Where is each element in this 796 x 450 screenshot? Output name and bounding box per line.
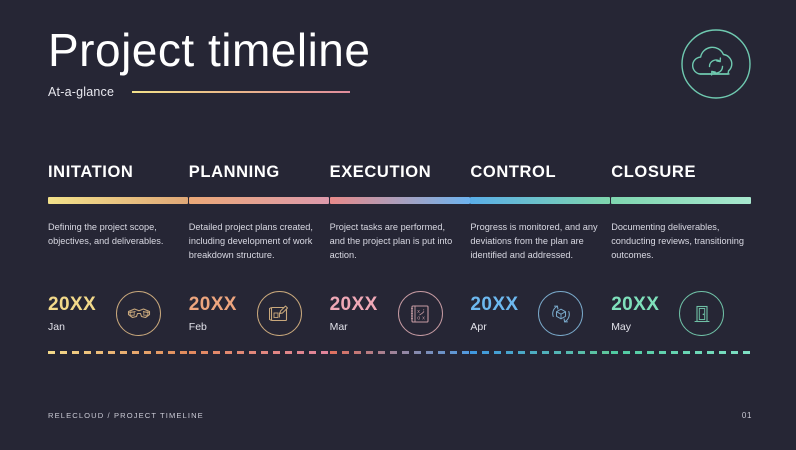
column-title: PLANNING <box>189 163 330 182</box>
column-milestone: 20XX Feb <box>189 291 302 336</box>
milestone-date: 20XX Jan <box>48 294 104 333</box>
column-description: Defining the project scope, objectives, … <box>48 221 181 249</box>
column-gradient-bar <box>330 197 470 204</box>
svg-text:x: x <box>422 315 425 321</box>
milestone-date: 20XX Apr <box>470 294 526 333</box>
milestone-year: 20XX <box>330 294 386 316</box>
strategy-playbook-icon: x ↑ o x <box>398 291 443 336</box>
column-description: Progress is monitored, and any deviation… <box>470 221 603 263</box>
slide-header: Project timeline At-a-glance <box>48 24 370 99</box>
milestone-year: 20XX <box>611 294 667 316</box>
milestone-month: May <box>611 321 667 333</box>
column-milestone: 20XX Jan <box>48 291 161 336</box>
column-title: CLOSURE <box>611 163 752 182</box>
footer-breadcrumb: RELECLOUD / PROJECT TIMELINE <box>48 411 204 420</box>
svg-text:o: o <box>417 315 420 321</box>
column-title: CONTROL <box>470 163 611 182</box>
timeline-column-execution: EXECUTION Project tasks are performed, a… <box>330 163 471 373</box>
timeline-column-planning: PLANNING Detailed project plans created,… <box>189 163 330 373</box>
column-gradient-bar <box>48 197 188 204</box>
milestone-year: 20XX <box>48 294 104 316</box>
milestone-year: 20XX <box>189 294 245 316</box>
cloud-sync-icon <box>678 26 754 102</box>
column-title: EXECUTION <box>330 163 471 182</box>
column-milestone: 20XX May <box>611 291 724 336</box>
column-milestone: 20XX Apr <box>470 291 583 336</box>
blueprint-pencil-icon <box>257 291 302 336</box>
milestone-date: 20XX Mar <box>330 294 386 333</box>
milestone-month: Feb <box>189 321 245 333</box>
column-dashed-line <box>470 351 610 354</box>
column-dashed-line <box>189 351 329 354</box>
door-exit-icon <box>679 291 724 336</box>
cube-rotate-icon <box>538 291 583 336</box>
timeline-columns: INITATION Defining the project scope, ob… <box>48 163 752 373</box>
milestone-date: 20XX Feb <box>189 294 245 333</box>
milestone-date: 20XX May <box>611 294 667 333</box>
subtitle-row: At-a-glance <box>48 85 370 99</box>
column-dashed-line <box>330 351 470 354</box>
milestone-month: Apr <box>470 321 526 333</box>
timeline-column-control: CONTROL Progress is monitored, and any d… <box>470 163 611 373</box>
column-dashed-line <box>48 351 188 354</box>
glasses-3d-icon <box>116 291 161 336</box>
timeline-column-closure: CLOSURE Documenting deliverables, conduc… <box>611 163 752 373</box>
slide-canvas: Project timeline At-a-glance INITATION D… <box>0 0 796 450</box>
column-description: Detailed project plans created, includin… <box>189 221 322 263</box>
column-gradient-bar <box>611 197 751 204</box>
column-gradient-bar <box>189 197 329 204</box>
svg-text:x: x <box>417 309 420 315</box>
page-number: 01 <box>742 411 752 420</box>
column-description: Documenting deliverables, conducting rev… <box>611 221 744 263</box>
column-title: INITATION <box>48 163 189 182</box>
gradient-divider <box>132 91 350 93</box>
milestone-year: 20XX <box>470 294 526 316</box>
column-milestone: 20XX Mar x ↑ o x <box>330 291 443 336</box>
page-title: Project timeline <box>48 24 370 77</box>
timeline-column-initation: INITATION Defining the project scope, ob… <box>48 163 189 373</box>
milestone-month: Mar <box>330 321 386 333</box>
column-description: Project tasks are performed, and the pro… <box>330 221 463 263</box>
milestone-month: Jan <box>48 321 104 333</box>
column-gradient-bar <box>470 197 610 204</box>
page-subtitle: At-a-glance <box>48 85 114 99</box>
column-dashed-line <box>611 351 751 354</box>
